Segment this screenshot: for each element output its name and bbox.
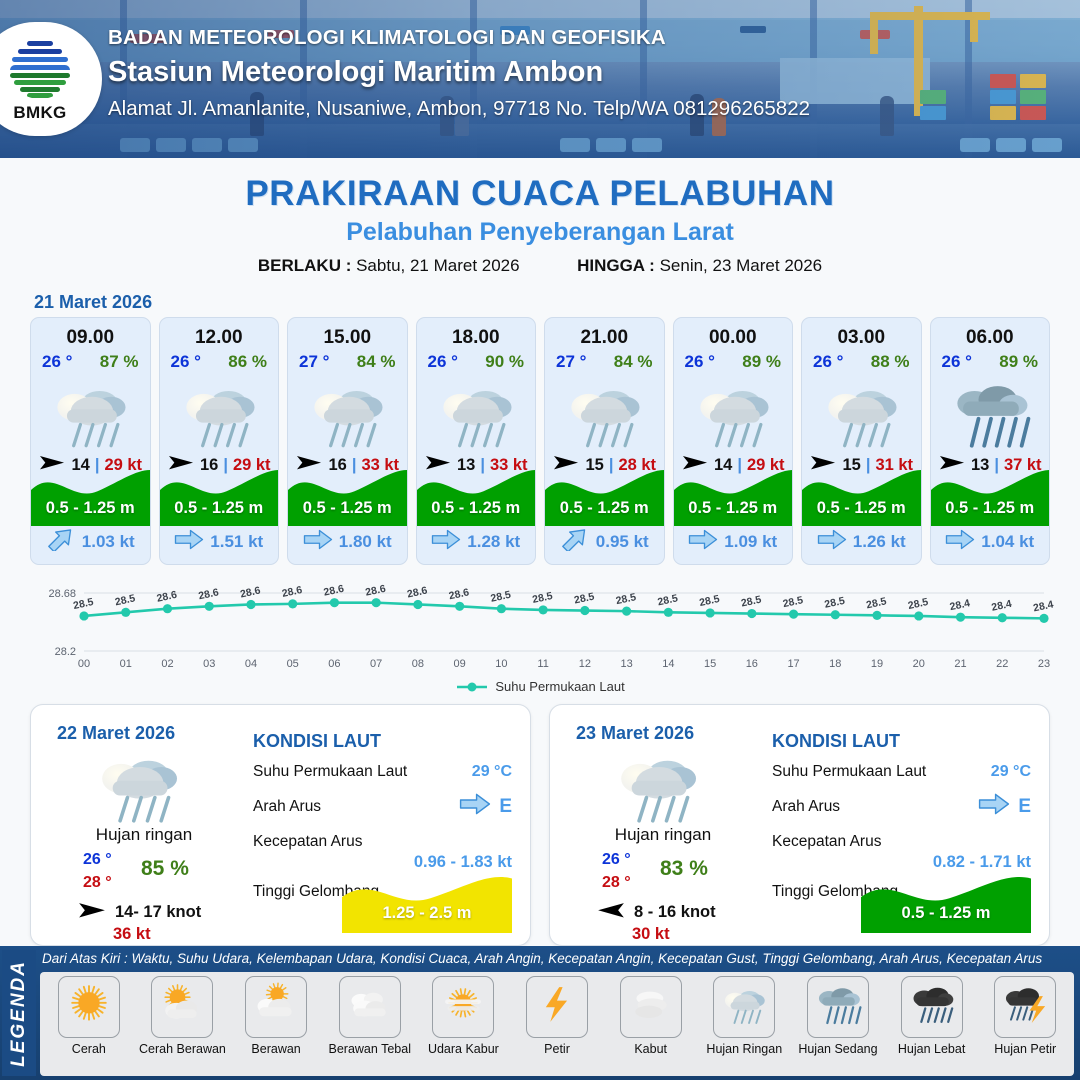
svg-text:28.5: 28.5 <box>698 593 721 609</box>
wave-height: 0.5 - 1.25 m <box>288 499 407 518</box>
sea-conditions: KONDISI LAUT Suhu Permukaan Laut 29 °C A… <box>772 731 1031 935</box>
card-temperature: 26 ° <box>813 352 843 372</box>
legend-hujan-lebat-icon <box>901 976 963 1038</box>
sst-row: Suhu Permukaan Laut 29 °C <box>253 763 512 781</box>
logo-oval-icon <box>8 35 72 99</box>
daily-wave-band <box>861 871 1031 933</box>
current-speed-label: Kecepatan Arus <box>253 833 362 851</box>
daily-humidity: 85 % <box>141 857 189 881</box>
legend-cerah-icon <box>58 976 120 1038</box>
svg-text:28.5: 28.5 <box>823 595 846 611</box>
card-current-row: 1.28 kt <box>417 528 536 556</box>
card-current-row: 1.04 kt <box>931 528 1050 556</box>
legend-marker-icon <box>455 681 489 693</box>
svg-text:28.6: 28.6 <box>197 586 220 602</box>
card-time: 18.00 <box>417 327 536 349</box>
daily-temp-min: 26 ° <box>83 851 112 869</box>
current-speed: 0.95 kt <box>596 532 649 552</box>
card-humidity: 86 % <box>228 352 267 372</box>
page-subtitle: Pelabuhan Penyeberangan Larat <box>0 218 1080 247</box>
hourly-card: 18.00 26 ° 90 % 13 | 33 kt 0.5 - 1.25 m <box>416 317 537 565</box>
daily-wind-speed: 8 - 16 knot <box>634 903 716 922</box>
current-speed: 1.09 kt <box>724 532 777 552</box>
legend-hujan-sedang-icon <box>807 976 869 1038</box>
legend-side-title: LEGENDA <box>2 950 36 1076</box>
svg-text:01: 01 <box>120 658 132 670</box>
current-direction-label: Arah Arus <box>253 798 321 816</box>
current-direction-arrow-icon <box>46 528 76 556</box>
svg-text:28.2: 28.2 <box>55 646 76 658</box>
card-temperature: 27 ° <box>299 352 329 372</box>
svg-text:28.6: 28.6 <box>364 583 387 599</box>
wave-height: 0.5 - 1.25 m <box>31 499 150 518</box>
current-direction-value: E <box>978 792 1031 822</box>
legend-item-label: Cerah <box>72 1042 106 1056</box>
svg-text:14: 14 <box>662 658 674 670</box>
current-speed: 1.28 kt <box>467 532 520 552</box>
station-address: Alamat Jl. Amanlanite, Nusaniwe, Ambon, … <box>108 97 810 121</box>
wave-height: 0.5 - 1.25 m <box>545 499 664 518</box>
card-current-row: 1.80 kt <box>288 528 407 556</box>
daily-wave-band <box>342 871 512 933</box>
card-time: 21.00 <box>545 327 664 349</box>
daily-weather-icon <box>602 747 712 825</box>
card-time: 12.00 <box>160 327 279 349</box>
validity-row: BERLAKU : Sabtu, 21 Maret 2026 HINGGA : … <box>0 256 1080 276</box>
current-speed: 1.51 kt <box>210 532 263 552</box>
agency-name: BADAN METEOROLOGI KLIMATOLOGI DAN GEOFIS… <box>108 26 810 50</box>
logo-label: BMKG <box>0 103 80 123</box>
hourly-card: 21.00 27 ° 84 % 15 | 28 kt 0.5 - 1.25 m <box>544 317 665 565</box>
legend-item: Berawan <box>229 976 323 1056</box>
svg-text:28.5: 28.5 <box>114 592 137 608</box>
svg-text:28.6: 28.6 <box>323 583 346 599</box>
current-direction-arrow-icon <box>978 792 1010 822</box>
card-time: 00.00 <box>674 327 793 349</box>
svg-text:28.5: 28.5 <box>782 594 805 610</box>
wind-direction-arrow-icon <box>77 901 107 925</box>
current-direction-arrow-icon <box>174 528 204 556</box>
svg-text:22: 22 <box>996 658 1008 670</box>
hingga-label: HINGGA : <box>577 256 655 275</box>
berlaku-label: BERLAKU : <box>258 256 352 275</box>
svg-text:10: 10 <box>495 658 507 670</box>
card-weather-icon <box>931 374 1050 452</box>
sea-conditions-header: KONDISI LAUT <box>772 731 1031 752</box>
legend-cerah-berawan-icon <box>151 976 213 1038</box>
card-current-row: 0.95 kt <box>545 528 664 556</box>
card-humidity: 89 % <box>742 352 781 372</box>
legend-berawan-tebal-icon <box>339 976 401 1038</box>
svg-text:28.5: 28.5 <box>740 594 763 610</box>
hourly-card: 00.00 26 ° 89 % 14 | 29 kt 0.5 - 1.25 m <box>673 317 794 565</box>
legend-item: Cerah <box>42 976 136 1056</box>
legend-item-label: Petir <box>544 1042 570 1056</box>
legend-item: Hujan Ringan <box>697 976 791 1056</box>
svg-text:15: 15 <box>704 658 716 670</box>
svg-text:28.5: 28.5 <box>865 595 888 611</box>
svg-text:20: 20 <box>913 658 925 670</box>
card-weather-icon <box>417 374 536 452</box>
card-humidity: 88 % <box>871 352 910 372</box>
current-speed: 1.80 kt <box>339 532 392 552</box>
wave-height: 0.5 - 1.25 m <box>802 499 921 518</box>
daily-wind-speed: 14- 17 knot <box>115 903 201 922</box>
card-weather-icon <box>31 374 150 452</box>
current-speed-label: Kecepatan Arus <box>772 833 881 851</box>
station-name: Stasiun Meteorologi Maritim Ambon <box>108 56 810 89</box>
berlaku-value: Sabtu, 21 Maret 2026 <box>356 256 520 275</box>
daily-panel: 23 Maret 2026 Hujan ringan 26 ° 28 ° 83 … <box>549 704 1050 946</box>
hourly-card: 03.00 26 ° 88 % 15 | 31 kt 0.5 - 1.25 m <box>801 317 922 565</box>
title-block: PRAKIRAAN CUACA PELABUHAN Pelabuhan Peny… <box>0 174 1080 276</box>
current-direction-arrow-icon <box>459 792 491 822</box>
svg-text:09: 09 <box>454 658 466 670</box>
current-direction-row: Arah Arus E <box>253 792 512 822</box>
card-time: 09.00 <box>31 327 150 349</box>
daily-condition: Hujan ringan <box>49 825 239 845</box>
legend-item-label: Cerah Berawan <box>139 1042 226 1056</box>
card-humidity: 90 % <box>485 352 524 372</box>
daily-panel: 22 Maret 2026 Hujan ringan 26 ° 28 ° 85 … <box>30 704 531 946</box>
wind-direction-arrow-icon <box>596 901 626 925</box>
svg-text:28.6: 28.6 <box>406 585 429 601</box>
svg-text:28.6: 28.6 <box>448 586 471 602</box>
svg-text:28.4: 28.4 <box>1032 598 1055 614</box>
legend-note: Dari Atas Kiri : Waktu, Suhu Udara, Kele… <box>42 951 1074 966</box>
card-time: 06.00 <box>931 327 1050 349</box>
hingga-value: Senin, 23 Maret 2026 <box>660 256 823 275</box>
legend-item-label: Hujan Ringan <box>706 1042 782 1056</box>
daily-wind-row: 14- 17 knot <box>77 901 201 925</box>
svg-text:19: 19 <box>871 658 883 670</box>
legend-item-label: Udara Kabur <box>428 1042 499 1056</box>
legend-hujan-ringan-icon <box>713 976 775 1038</box>
svg-text:18: 18 <box>829 658 841 670</box>
current-speed-value: 0.82 - 1.71 kt <box>772 853 1031 872</box>
legend-items: Cerah Cerah Berawan Berawan Berawan Teba… <box>40 972 1074 1076</box>
card-temp-hum-row: 26 ° 88 % <box>802 349 921 372</box>
svg-text:07: 07 <box>370 658 382 670</box>
current-speed: 1.03 kt <box>82 532 135 552</box>
daily-temp-max: 28 ° <box>83 874 112 892</box>
daily-date: 22 Maret 2026 <box>57 723 175 744</box>
card-temp-hum-row: 27 ° 84 % <box>288 349 407 372</box>
legend-item: Udara Kabur <box>417 976 511 1056</box>
svg-text:12: 12 <box>579 658 591 670</box>
svg-text:02: 02 <box>161 658 173 670</box>
card-weather-icon <box>160 374 279 452</box>
current-direction-label: Arah Arus <box>772 798 840 816</box>
legend-item-label: Hujan Sedang <box>798 1042 877 1056</box>
current-direction-arrow-icon <box>303 528 333 556</box>
current-direction-arrow-icon <box>560 528 590 556</box>
card-weather-icon <box>288 374 407 452</box>
card-temperature: 26 ° <box>685 352 715 372</box>
card-humidity: 84 % <box>357 352 396 372</box>
legend-petir-icon <box>526 976 588 1038</box>
svg-text:28.5: 28.5 <box>656 592 679 608</box>
card-current-row: 1.09 kt <box>674 528 793 556</box>
card-time: 03.00 <box>802 327 921 349</box>
svg-text:21: 21 <box>954 658 966 670</box>
svg-text:28.68: 28.68 <box>48 588 76 600</box>
current-speed-value: 0.96 - 1.83 kt <box>253 853 512 872</box>
daily-wave-value: 0.5 - 1.25 m <box>861 904 1031 923</box>
svg-text:28.4: 28.4 <box>990 598 1013 614</box>
card-temp-hum-row: 26 ° 89 % <box>931 349 1050 372</box>
header-banner: BMKG BADAN METEOROLOGI KLIMATOLOGI DAN G… <box>0 0 1080 158</box>
legend-item-label: Hujan Petir <box>994 1042 1056 1056</box>
sst-label: Suhu Permukaan Laut <box>253 763 407 781</box>
current-speed-row: Kecepatan Arus <box>772 833 1031 851</box>
current-direction-arrow-icon <box>945 528 975 556</box>
legend-item-label: Berawan <box>251 1042 300 1056</box>
chart-legend: Suhu Permukaan Laut <box>0 679 1080 694</box>
legend-bar: LEGENDA Dari Atas Kiri : Waktu, Suhu Uda… <box>0 946 1080 1080</box>
card-temperature: 26 ° <box>428 352 458 372</box>
current-direction-row: Arah Arus E <box>772 792 1031 822</box>
sst-value: 29 °C <box>472 763 512 781</box>
legend-item-label: Berawan Tebal <box>329 1042 411 1056</box>
current-direction-arrow-icon <box>688 528 718 556</box>
card-temp-hum-row: 26 ° 90 % <box>417 349 536 372</box>
current-speed-row: Kecepatan Arus <box>253 833 512 851</box>
svg-text:03: 03 <box>203 658 215 670</box>
legend-item: Hujan Sedang <box>791 976 885 1056</box>
svg-text:16: 16 <box>746 658 758 670</box>
header-text-block: BADAN METEOROLOGI KLIMATOLOGI DAN GEOFIS… <box>108 26 810 121</box>
svg-text:05: 05 <box>287 658 299 670</box>
card-temperature: 27 ° <box>556 352 586 372</box>
svg-text:28.5: 28.5 <box>907 596 930 612</box>
current-direction-arrow-icon <box>431 528 461 556</box>
hourly-card: 12.00 26 ° 86 % 16 | 29 kt 0.5 - 1.25 m <box>159 317 280 565</box>
card-time: 15.00 <box>288 327 407 349</box>
daily-gust: 36 kt <box>113 925 151 944</box>
card-humidity: 87 % <box>100 352 139 372</box>
svg-text:08: 08 <box>412 658 424 670</box>
daily-weather-icon <box>83 747 193 825</box>
card-temp-hum-row: 26 ° 89 % <box>674 349 793 372</box>
legend-hujan-petir-icon <box>994 976 1056 1038</box>
legend-item-label: Hujan Lebat <box>898 1042 965 1056</box>
svg-text:28.6: 28.6 <box>239 585 262 601</box>
card-weather-icon <box>545 374 664 452</box>
svg-text:11: 11 <box>537 658 548 670</box>
svg-text:06: 06 <box>328 658 340 670</box>
sst-chart: 28.6828.228.50028.50128.60228.60328.6042… <box>22 577 1058 677</box>
wave-height: 0.5 - 1.25 m <box>674 499 793 518</box>
legend-item: Hujan Petir <box>978 976 1072 1056</box>
page-title: PRAKIRAAN CUACA PELABUHAN <box>0 174 1080 214</box>
card-temp-hum-row: 26 ° 86 % <box>160 349 279 372</box>
infographic-page: BMKG BADAN METEOROLOGI KLIMATOLOGI DAN G… <box>0 0 1080 1080</box>
legend-item: Hujan Lebat <box>885 976 979 1056</box>
sst-value: 29 °C <box>991 763 1031 781</box>
sst-row: Suhu Permukaan Laut 29 °C <box>772 763 1031 781</box>
legend-item-label: Kabut <box>634 1042 667 1056</box>
legend-kabut-icon <box>620 976 682 1038</box>
svg-text:28.6: 28.6 <box>281 584 304 600</box>
legend-udara-kabur-icon <box>432 976 494 1038</box>
sea-conditions-header: KONDISI LAUT <box>253 731 512 752</box>
current-speed: 1.04 kt <box>981 532 1034 552</box>
svg-text:28.5: 28.5 <box>615 591 638 607</box>
svg-text:04: 04 <box>245 658 257 670</box>
hourly-date-label: 21 Maret 2026 <box>34 292 1080 313</box>
card-temp-hum-row: 26 ° 87 % <box>31 349 150 372</box>
card-current-row: 1.03 kt <box>31 528 150 556</box>
svg-text:28.5: 28.5 <box>490 589 513 605</box>
hourly-card: 06.00 26 ° 89 % 13 | 37 kt 0.5 - 1.25 m <box>930 317 1051 565</box>
legend-item: Kabut <box>604 976 698 1056</box>
svg-text:28.6: 28.6 <box>156 589 179 605</box>
card-temperature: 26 ° <box>42 352 72 372</box>
daily-temp-max: 28 ° <box>602 874 631 892</box>
current-speed: 1.26 kt <box>853 532 906 552</box>
sea-conditions: KONDISI LAUT Suhu Permukaan Laut 29 °C A… <box>253 731 512 935</box>
card-humidity: 89 % <box>999 352 1038 372</box>
daily-humidity: 83 % <box>660 857 708 881</box>
svg-text:00: 00 <box>78 658 90 670</box>
daily-condition: Hujan ringan <box>568 825 758 845</box>
chart-legend-label: Suhu Permukaan Laut <box>495 679 624 694</box>
svg-text:13: 13 <box>620 658 632 670</box>
card-temperature: 26 ° <box>942 352 972 372</box>
card-humidity: 84 % <box>614 352 653 372</box>
wave-height: 0.5 - 1.25 m <box>417 499 536 518</box>
svg-text:28.5: 28.5 <box>531 590 554 606</box>
card-temperature: 26 ° <box>171 352 201 372</box>
hourly-card: 15.00 27 ° 84 % 16 | 33 kt 0.5 - 1.25 m <box>287 317 408 565</box>
hourly-card: 09.00 26 ° 87 % 14 | 29 kt 0.5 - 1.25 m <box>30 317 151 565</box>
daily-date: 23 Maret 2026 <box>576 723 694 744</box>
daily-forecast-panels: 22 Maret 2026 Hujan ringan 26 ° 28 ° 85 … <box>0 694 1080 946</box>
daily-gust: 30 kt <box>632 925 670 944</box>
wave-height: 0.5 - 1.25 m <box>931 499 1050 518</box>
daily-wave-value: 1.25 - 2.5 m <box>342 904 512 923</box>
legend-item: Berawan Tebal <box>323 976 417 1056</box>
wave-height: 0.5 - 1.25 m <box>160 499 279 518</box>
sst-label: Suhu Permukaan Laut <box>772 763 926 781</box>
card-weather-icon <box>802 374 921 452</box>
legend-item: Petir <box>510 976 604 1056</box>
legend-berawan-icon <box>245 976 307 1038</box>
card-temp-hum-row: 27 ° 84 % <box>545 349 664 372</box>
daily-wind-row: 8 - 16 knot <box>596 901 716 925</box>
card-current-row: 1.51 kt <box>160 528 279 556</box>
svg-text:28.4: 28.4 <box>949 597 972 613</box>
svg-text:23: 23 <box>1038 658 1050 670</box>
legend-item: Cerah Berawan <box>136 976 230 1056</box>
current-direction-arrow-icon <box>817 528 847 556</box>
card-current-row: 1.26 kt <box>802 528 921 556</box>
daily-temp-min: 26 ° <box>602 851 631 869</box>
card-weather-icon <box>674 374 793 452</box>
hourly-forecast-row: 09.00 26 ° 87 % 14 | 29 kt 0.5 - 1.25 m <box>0 317 1080 565</box>
svg-text:17: 17 <box>787 658 799 670</box>
current-direction-value: E <box>459 792 512 822</box>
